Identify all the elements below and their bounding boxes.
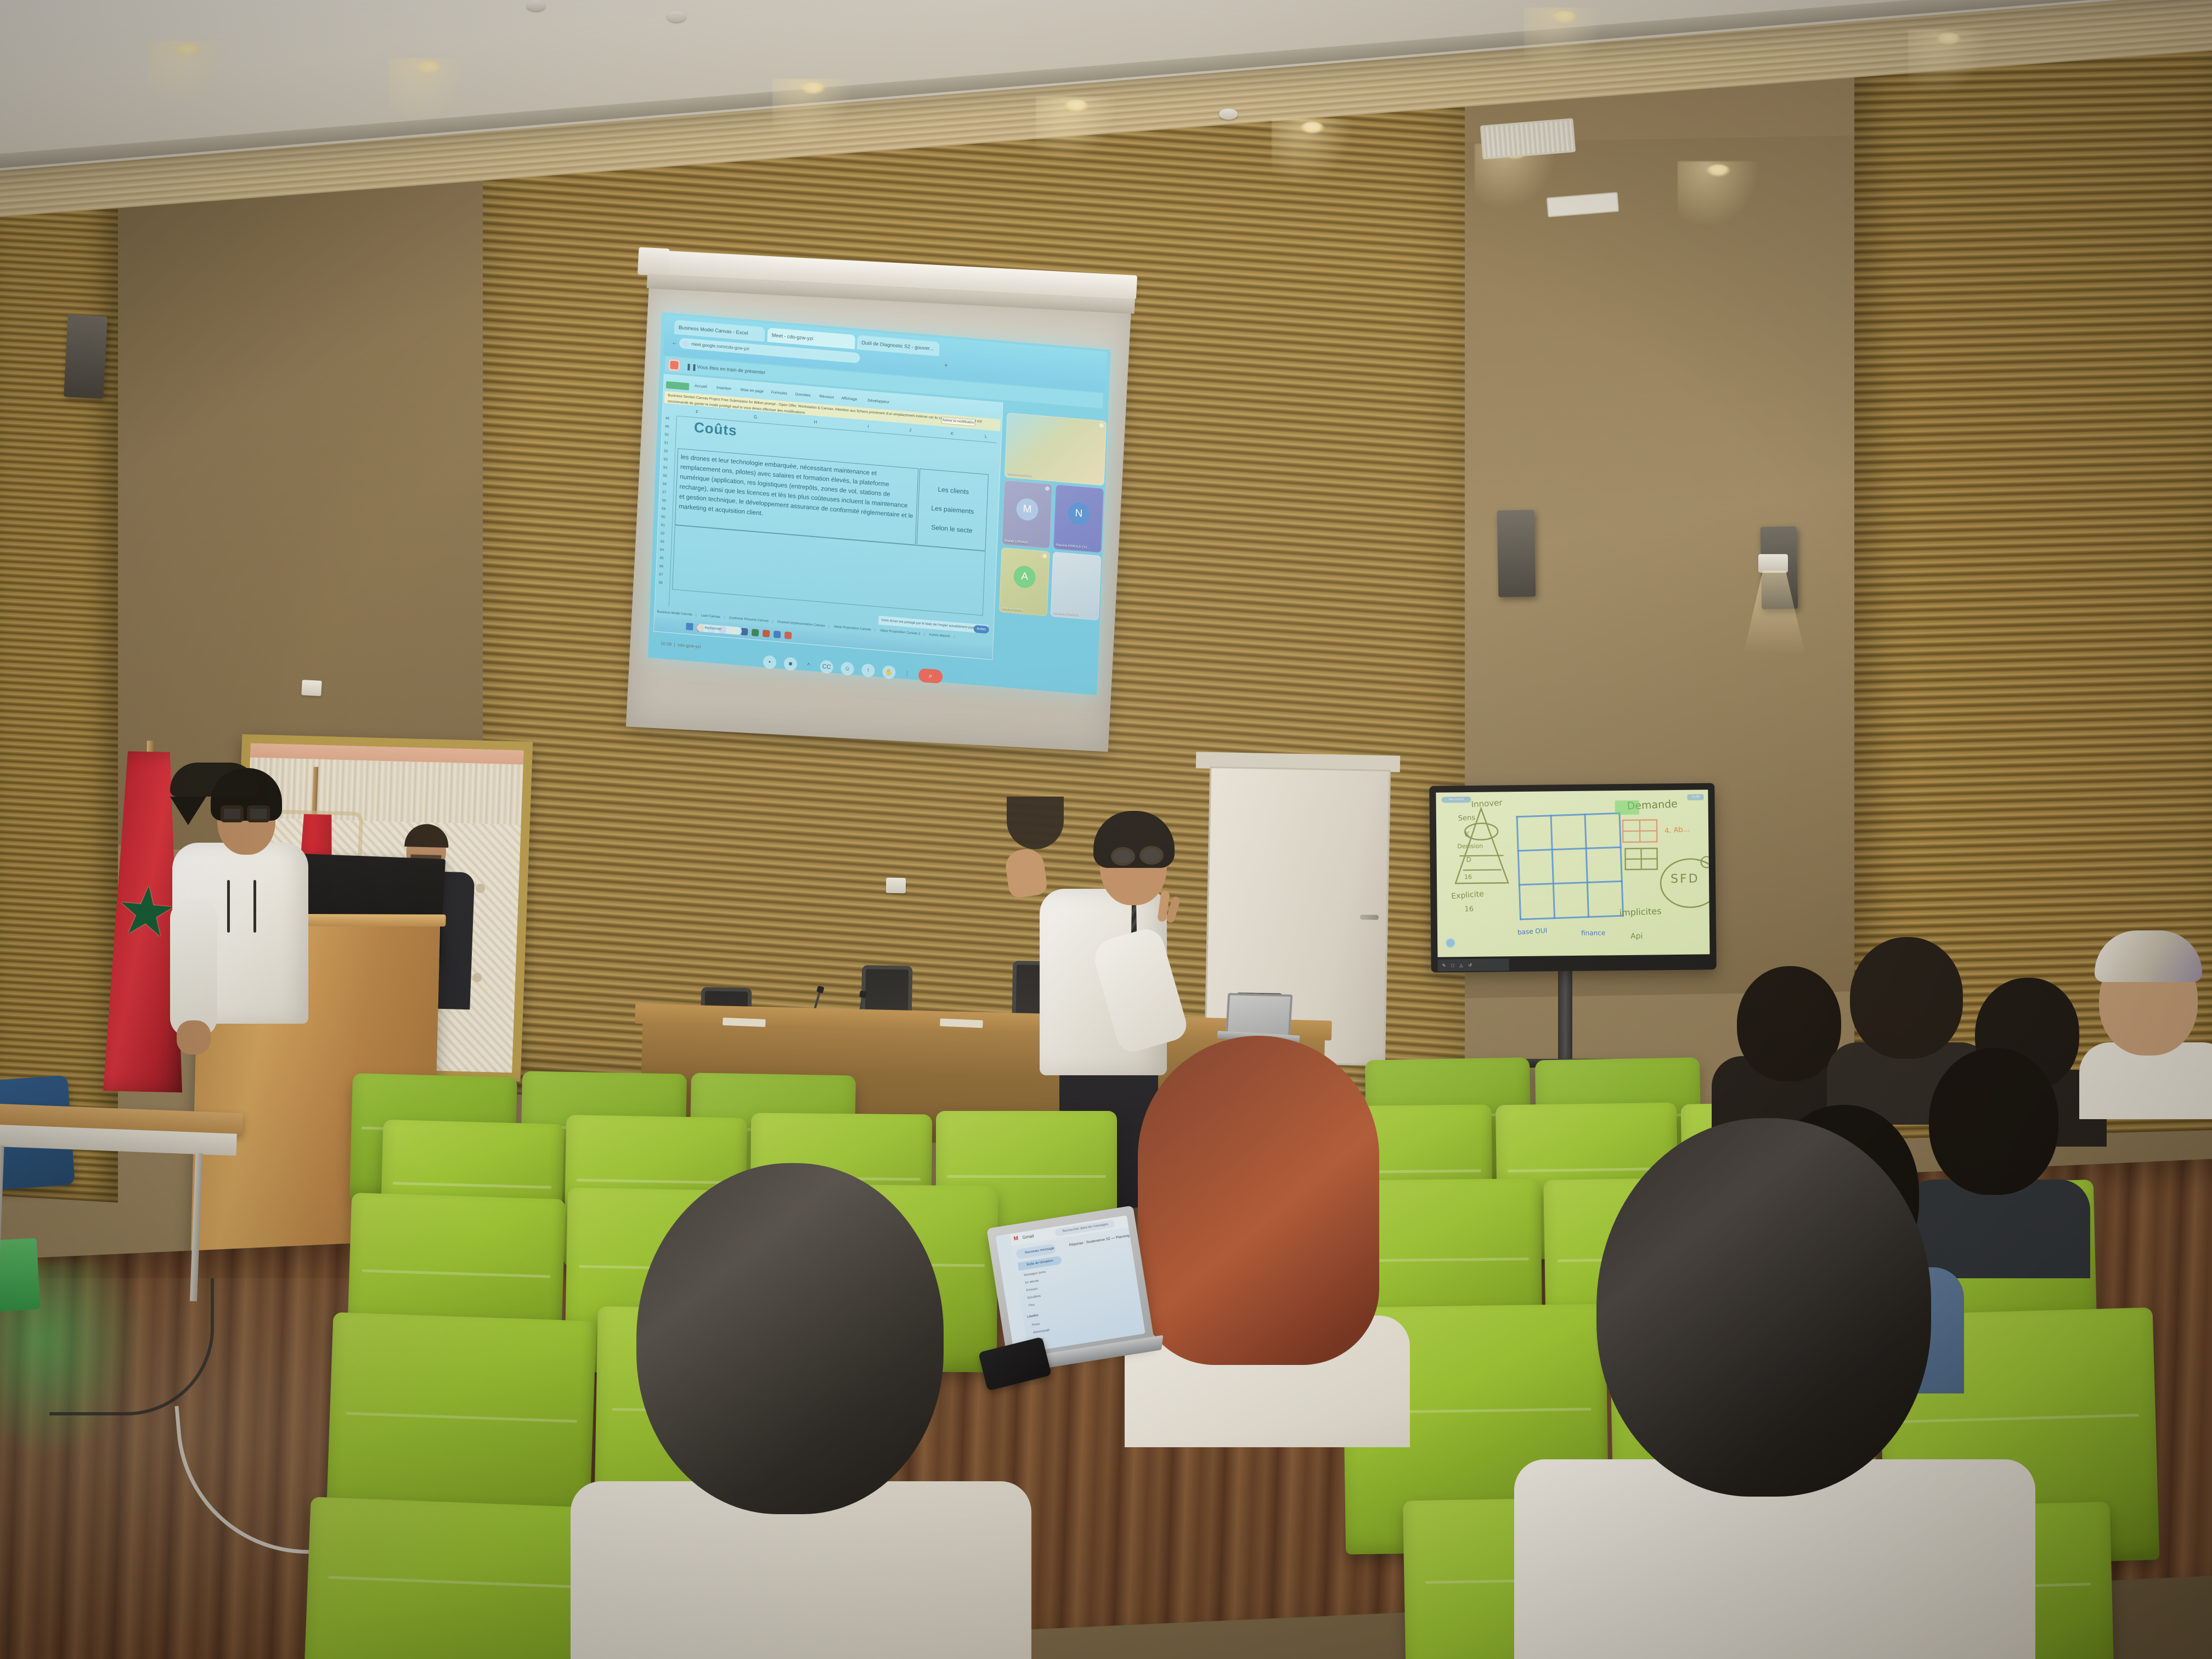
side-table: [0, 1103, 243, 1212]
gmail-label-1[interactable]: Administratif: [1033, 1329, 1050, 1335]
present-button[interactable]: ↑: [861, 663, 875, 678]
eraser-icon[interactable]: □: [1451, 963, 1454, 968]
downlight-5: [1300, 122, 1324, 134]
pause-presentation-icon[interactable]: ❚❚: [686, 363, 694, 371]
row-header-11[interactable]: 59: [662, 507, 665, 511]
emoji-button[interactable]: ☺: [840, 662, 854, 676]
ink-note-sfd: SFD: [1671, 872, 1700, 887]
gmail-nav-1[interactable]: En attente: [1025, 1279, 1039, 1285]
column-header-K[interactable]: K: [951, 431, 954, 436]
student-hood-collar: [170, 763, 258, 797]
audience-person-headscarf: [2079, 922, 2212, 1119]
ink-note-base-oui: base OUI: [1517, 927, 1548, 936]
participant-tile-2[interactable]: N Nisrine ERRAJI CH...: [1053, 484, 1104, 553]
mic-muted-icon-3: [1042, 554, 1047, 558]
wall-switch-left: [301, 680, 321, 696]
wall-switch-center: [886, 878, 906, 894]
row-header-3[interactable]: 51: [664, 441, 668, 445]
row-header-18[interactable]: 66: [659, 565, 663, 569]
row-header-4[interactable]: 52: [664, 449, 668, 454]
screen-housing-cap: [637, 247, 670, 276]
row-header-12[interactable]: 60: [661, 515, 665, 520]
row-header-7[interactable]: 55: [663, 474, 667, 478]
captions-button[interactable]: CC: [820, 660, 833, 674]
row-header-2[interactable]: 50: [664, 433, 668, 437]
wall-speaker-left: [64, 314, 108, 399]
whiteboard-toolstrip[interactable]: ✎ □ △ ↺: [1438, 958, 1509, 971]
ink-note-explicite: Explicite: [1451, 890, 1485, 901]
side-line-2: Selon le secte: [931, 523, 973, 534]
student-glasses-left-lens: [221, 805, 244, 822]
ink-note-k: K: [1465, 831, 1470, 839]
student-hood-v: [170, 797, 206, 825]
excel-cell-title[interactable]: Coûts: [693, 419, 737, 439]
student-drawstring-right: [253, 880, 256, 933]
outlook-icon[interactable]: [774, 630, 781, 638]
column-header-H[interactable]: H: [814, 420, 817, 425]
projected-image: Business Model Canvas - Excel Meet - cdo…: [648, 312, 1110, 695]
sheet-tab-4[interactable]: Value Proposition Canvas: [833, 625, 876, 632]
excel-file-tab[interactable]: [666, 381, 689, 391]
student-hand: [177, 1020, 211, 1054]
camera-button[interactable]: ■: [783, 657, 797, 671]
row-header-15[interactable]: 63: [660, 540, 664, 544]
ribbon-item-7[interactable]: Développeur: [867, 399, 889, 404]
column-header-J[interactable]: J: [909, 427, 911, 432]
audience-head-1: [1737, 966, 1841, 1081]
participant-tile-1[interactable]: M Malak LRHAM: [1002, 480, 1053, 549]
auditorium-photo: Business Model Canvas - Excel Meet - cdo…: [0, 0, 2212, 1659]
participant-name-4: Soumia IDRISSI: [1053, 611, 1079, 617]
column-header-I[interactable]: I: [867, 424, 869, 429]
record-indicator-icon[interactable]: [1445, 938, 1455, 948]
gmail-nav-2[interactable]: Envoyés: [1026, 1287, 1038, 1292]
participant-avatar-1: M: [1016, 498, 1039, 521]
meet-participant-grid: Ahmed Bennani M Malak LRHAM N Nisrine ER…: [997, 413, 1109, 673]
browser-tab-2[interactable]: Outil de Diagnostic S2 - gouver...: [857, 335, 940, 357]
presenter-glasses-left-lens: [1111, 847, 1135, 866]
wall-speaker-center: [1497, 510, 1536, 597]
gmail-nav-4[interactable]: Plus: [1029, 1304, 1035, 1308]
new-tab-icon[interactable]: +: [944, 362, 951, 369]
participant-tile-0[interactable]: Ahmed Bennani: [1005, 413, 1107, 486]
side-line-1: Les paiements: [931, 504, 974, 516]
meet-footer: 10:28 | cdo-gzw-yzi: [661, 641, 701, 649]
ink-note-innover: Innover: [1471, 798, 1503, 810]
excel-icon[interactable]: [752, 629, 759, 636]
participant-name-0: Ahmed Bennani: [1007, 471, 1032, 477]
ink-note-d: D: [1466, 856, 1471, 864]
downlight-3: [801, 82, 825, 94]
side-line-0: Les clients: [938, 486, 969, 496]
row-header-0[interactable]: 48: [665, 416, 669, 421]
sheet-tab-0[interactable]: Business Model Canvas: [657, 611, 696, 617]
row-header-19[interactable]: 67: [659, 573, 663, 577]
ink-note-16b: 16: [1465, 905, 1474, 913]
shared-excel-window: Accueil Insertion Mise en page Formules …: [653, 374, 1003, 660]
meet-time: 10:28: [661, 641, 672, 647]
chrome-icon[interactable]: [785, 631, 792, 639]
audience-person-front-left: [571, 1152, 1031, 1659]
row-header-14[interactable]: 62: [661, 532, 664, 536]
student-arm: [170, 900, 217, 1037]
green-waste-bin: [0, 1238, 40, 1313]
projection-screen: Business Model Canvas - Excel Meet - cdo…: [626, 250, 1133, 752]
more-options-button[interactable]: ⋮: [903, 667, 911, 680]
back-icon[interactable]: ←: [672, 340, 678, 347]
shapes-icon[interactable]: △: [1459, 963, 1463, 968]
gmail-nav-3[interactable]: Brouillons: [1028, 1295, 1041, 1300]
mic-muted-icon-1: [1045, 486, 1049, 491]
row-header-8[interactable]: 56: [663, 482, 667, 487]
sheet-tab-5[interactable]: Value Proposition Canvas 2: [880, 629, 925, 636]
column-header-L[interactable]: L: [985, 434, 988, 439]
audience-head-front-left: [636, 1163, 944, 1514]
participant-tile-4[interactable]: Soumia IDRISSI: [1051, 552, 1102, 620]
row-header-6[interactable]: 54: [663, 466, 667, 470]
ink-note-sens: Sens: [1458, 814, 1476, 822]
gmail-logo-icon: M: [1013, 1235, 1019, 1242]
student-at-podium: [170, 763, 335, 1092]
smoke-detector-1: [667, 11, 686, 22]
row-header-20[interactable]: 68: [658, 581, 662, 585]
column-header-F[interactable]: F: [696, 410, 698, 415]
meet-logo-icon: [668, 359, 680, 371]
small-grid-sketch-2-icon: [1624, 847, 1658, 871]
windows-start-icon[interactable]: [686, 623, 693, 630]
presenter-glasses-right-lens: [1139, 846, 1164, 865]
ink-note-4ab: 4. Ab...: [1664, 825, 1690, 836]
downlight-2: [417, 61, 441, 74]
audience-person-redhair: [1114, 1030, 1421, 1447]
ribbon-item-5[interactable]: Révision: [819, 394, 834, 399]
row-header-10[interactable]: 58: [662, 499, 666, 503]
column-header-G[interactable]: G: [754, 414, 758, 420]
row-header-16[interactable]: 64: [660, 548, 664, 552]
new-content-chip[interactable]: New content: [1441, 797, 1471, 803]
sheet-tab-3[interactable]: Channel Implementation Canvas: [777, 620, 830, 628]
microphone-button[interactable]: •: [763, 655, 777, 669]
ribbon-item-4[interactable]: Données: [795, 393, 810, 398]
smoke-detector-2: [1219, 109, 1238, 120]
audience-headscarf-icon: [2095, 930, 2202, 982]
audience-person-front-right: [1514, 1108, 2035, 1659]
smart-whiteboard[interactable]: New content 11:38 Innover Sens K Decisio…: [1429, 783, 1717, 972]
participant-avatar-3: A: [1013, 565, 1036, 588]
grid-sketch-icon: [1516, 812, 1624, 921]
ink-note-decision: Decision: [1457, 843, 1483, 850]
row-header-5[interactable]: 53: [664, 458, 668, 462]
ink-note-finance: finance: [1581, 929, 1605, 936]
smoke-detector-3: [527, 0, 545, 11]
laptop-screen[interactable]: M Gmail Rechercher dans les messages Nou…: [996, 1215, 1145, 1354]
excel-cell-side[interactable]: Les clients Les paiements Selon le secte: [917, 469, 989, 551]
row-header-1[interactable]: 49: [665, 425, 669, 429]
gmail-labels-header: Libellés: [1027, 1314, 1039, 1319]
downlight-8: [1937, 33, 1961, 45]
undo-icon[interactable]: ↺: [1468, 962, 1472, 967]
small-grid-sketch-1-icon: [1622, 819, 1658, 843]
sheet-tab-2[interactable]: Customer Persona Canvas: [729, 617, 773, 624]
ribbon-item-2[interactable]: Mise en page: [741, 388, 764, 394]
ink-note-implicites: implicites: [1619, 906, 1662, 918]
audience-head-2: [1850, 937, 1963, 1059]
presenter-beard: [1007, 797, 1064, 849]
clock-badge: 11:38: [1687, 794, 1703, 800]
audience-hair-redhair: [1138, 1036, 1379, 1365]
stop-sharing-button[interactable]: Arrêter: [973, 625, 989, 634]
ink-note-16a: 16: [1464, 873, 1472, 881]
whiteboard-canvas[interactable]: New content 11:38 Innover Sens K Decisio…: [1436, 789, 1709, 957]
row-header-17[interactable]: 65: [659, 556, 663, 561]
participant-name-2: Nisrine ERRAJI CH...: [1056, 543, 1090, 550]
smartboard-stand-column: [1558, 966, 1572, 1064]
ink-note-api: Api: [1630, 932, 1643, 941]
downlight-9: [1553, 11, 1577, 23]
pen-icon[interactable]: ✎: [1442, 963, 1446, 968]
gmail-nav-0[interactable]: Messages suivis: [1024, 1271, 1046, 1277]
participant-tile-3[interactable]: A Amine Amine: [999, 548, 1050, 616]
row-header-13[interactable]: 61: [661, 523, 665, 528]
audience-head-front-right: [1596, 1118, 1931, 1497]
powerpoint-icon[interactable]: [763, 629, 770, 637]
meet-code: cdo-gzw-yzi: [678, 642, 701, 650]
downlight-7: [1706, 165, 1730, 177]
screen-surface: Business Model Canvas - Excel Meet - cdo…: [626, 288, 1131, 752]
participant-avatar-2: N: [1068, 501, 1091, 525]
presenter-raised-hand: [1003, 847, 1048, 899]
chevron-up-icon[interactable]: ^: [804, 658, 812, 672]
ribbon-item-0[interactable]: Accueil: [695, 384, 707, 389]
raise-hand-button[interactable]: ✋: [882, 665, 896, 679]
presenting-label: Vous êtes en train de présenter: [697, 364, 765, 375]
sheet-tab-6[interactable]: Autres départs: [929, 633, 955, 639]
row-header-9[interactable]: 57: [662, 490, 666, 495]
ribbon-item-6[interactable]: Affichage: [841, 397, 857, 402]
downlight-4: [1064, 100, 1088, 112]
browser-window: Business Model Canvas - Excel Meet - cdo…: [648, 312, 1110, 695]
ribbon-item-3[interactable]: Formules: [771, 391, 787, 396]
student-drawstring-left: [227, 880, 230, 933]
downlight-1: [176, 44, 200, 56]
ribbon-item-1[interactable]: Insertion: [716, 386, 731, 391]
wall-lamp: [1758, 554, 1788, 573]
door-handle-icon[interactable]: [1360, 915, 1379, 920]
highlight-block: [1615, 800, 1639, 815]
mic-muted-icon-0: [1099, 423, 1104, 428]
participant-name-3: Amine Amine: [1002, 606, 1023, 612]
participant-name-1: Malak LRHAM: [1005, 539, 1028, 545]
gmail-label-0[interactable]: Perso: [1031, 1323, 1040, 1327]
student-glasses-right-lens: [247, 805, 270, 822]
end-call-button[interactable]: ⌕: [918, 668, 943, 684]
sheet-tab-1[interactable]: Lean Canvas: [701, 614, 725, 619]
